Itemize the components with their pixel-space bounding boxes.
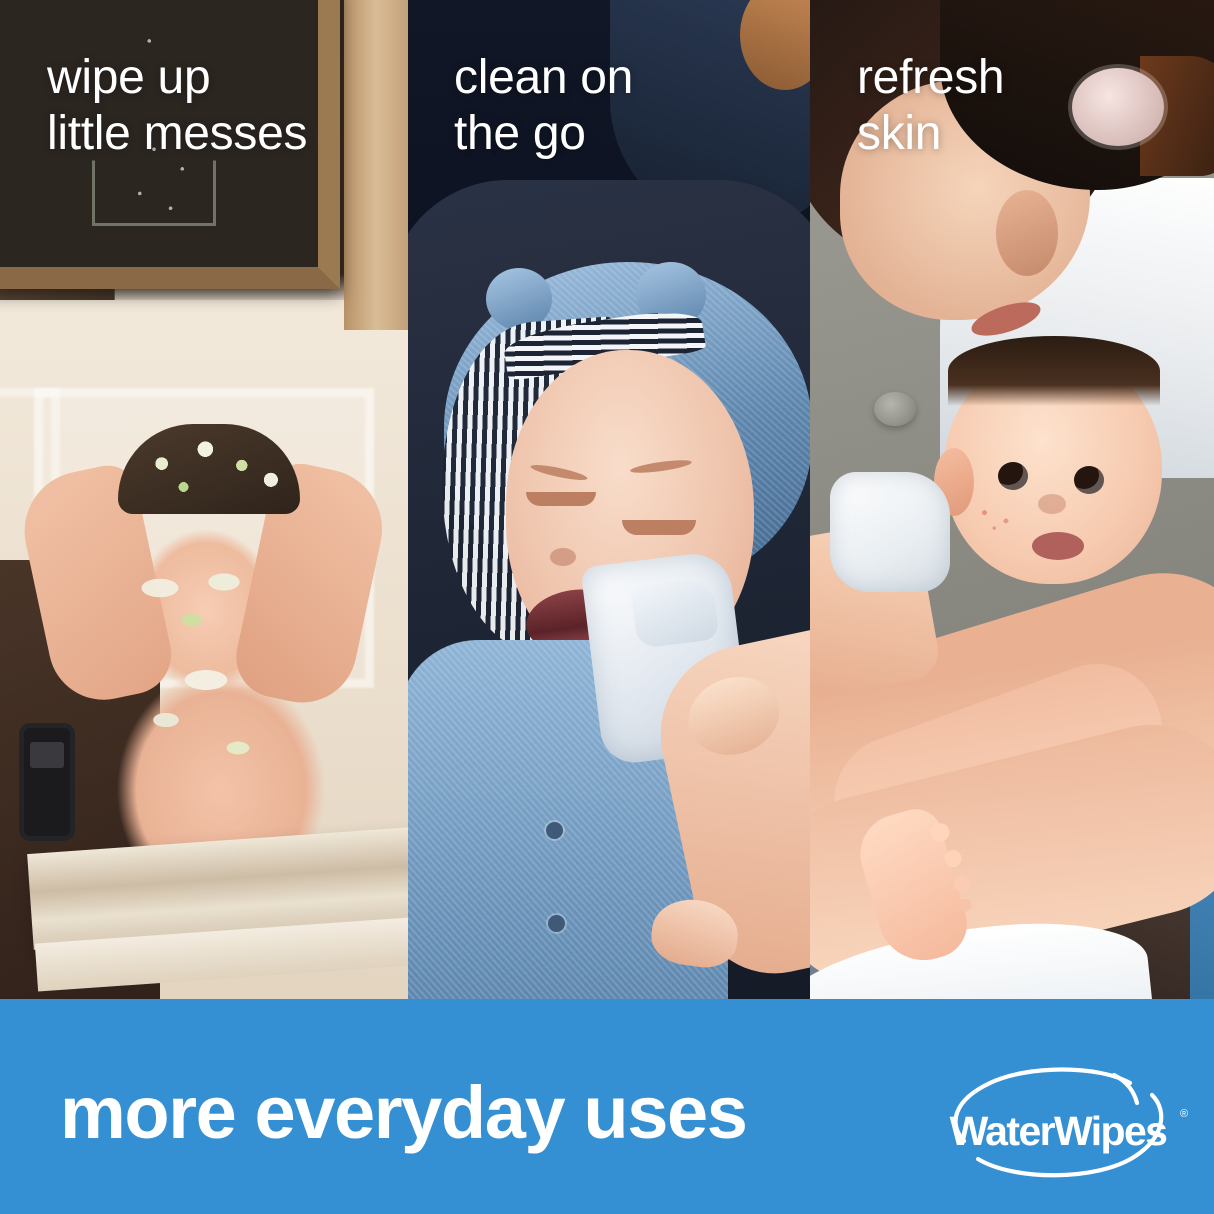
panel-1-caption: wipe up little messes [47, 50, 307, 162]
hair-scrunchie-icon [1072, 68, 1164, 146]
waterwipes-logo: WaterWipes ® [918, 1053, 1198, 1203]
panel-clean-on-the-go: clean on the go [408, 0, 810, 1014]
panel-2-caption: clean on the go [454, 50, 633, 162]
headline-more-everyday-uses: more everyday uses [60, 1076, 746, 1150]
panel-wipe-up-little-messes: wipe up little messes [0, 0, 408, 1014]
photo-strip: wipe up little messes [0, 0, 1214, 1014]
panel-refresh-skin: refresh skin [810, 0, 1214, 1014]
poster-canvas: wipe up little messes [0, 0, 1214, 1214]
panel-3-caption: refresh skin [857, 50, 1004, 162]
logo-wordmark: WaterWipes [950, 1108, 1168, 1154]
registered-trademark-mark: ® [1180, 1108, 1188, 1120]
baby-wipe-icon [830, 472, 950, 592]
